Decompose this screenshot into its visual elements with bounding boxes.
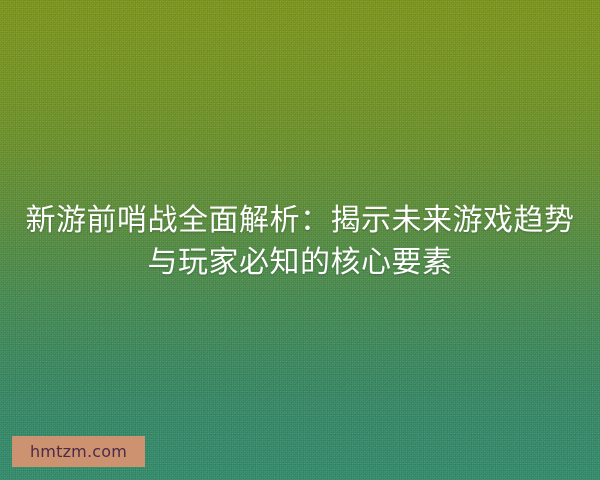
watermark-badge: hmtzm.com bbox=[12, 436, 145, 467]
title-line-1: 新游前哨战全面解析：揭示未来游戏趋势 bbox=[14, 200, 586, 242]
banner-image: 新游前哨战全面解析：揭示未来游戏趋势 与玩家必知的核心要素 hmtzm.com bbox=[0, 0, 600, 480]
page-title: 新游前哨战全面解析：揭示未来游戏趋势 与玩家必知的核心要素 bbox=[0, 200, 600, 284]
watermark-text: hmtzm.com bbox=[30, 444, 127, 460]
title-line-2: 与玩家必知的核心要素 bbox=[14, 242, 586, 284]
